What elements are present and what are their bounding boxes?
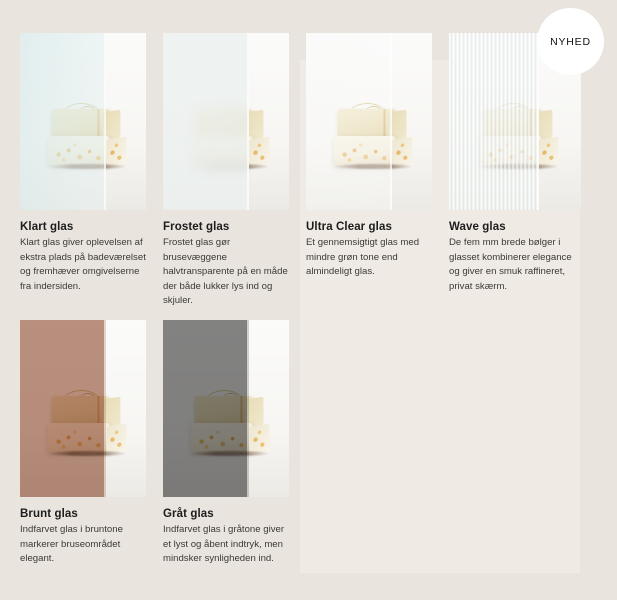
card-description: Klart glas giver oplevelsen af ekstra pl… [20,236,146,294]
soap-photo [163,320,289,497]
card-klart-glas[interactable]: Klart glas Klart glas giver oplevelsen a… [20,33,146,294]
soap-stack-illustration [47,109,121,171]
soap-stack-illustration [333,109,407,171]
card-description: Frostet glas gør brusevæggene halvtransp… [163,236,289,309]
card-title: Brunt glas [20,508,146,520]
soap-photo [163,33,289,210]
card-description: De fem mm brede bølger i glasset kombine… [449,236,581,294]
soap-stack-illustration [47,396,121,458]
soap-stack-illustration [479,109,553,171]
card-graat-glas[interactable]: Gråt glas Indfarvet glas i gråtone giver… [163,320,289,567]
card-frostet-glas[interactable]: Frostet glas Frostet glas gør brusevægge… [163,33,289,309]
card-description: Indfarvet glas i gråtone giver et lyst o… [163,523,289,567]
card-title: Ultra Clear glas [306,221,432,233]
soap-stack-illustration [190,396,264,458]
card-ultra-clear-glas[interactable]: Ultra Clear glas Et gennemsigtigt glas m… [306,33,432,280]
card-brunt-glas[interactable]: Brunt glas Indfarvet glas i bruntone mar… [20,320,146,567]
card-title: Frostet glas [163,221,289,233]
card-description: Indfarvet glas i bruntone markerer bruse… [20,523,146,567]
card-description: Et gennemsigtigt glas med mindre grøn to… [306,236,432,280]
card-image-brunt-glas [20,320,146,497]
soap-photo [306,33,432,210]
soap-photo [20,320,146,497]
nyhed-badge: NYHED [537,8,604,75]
card-title: Gråt glas [163,508,289,520]
card-image-klart-glas [20,33,146,210]
card-image-frostet-glas [163,33,289,210]
card-image-graat-glas [163,320,289,497]
glass-options-grid: Klart glas Klart glas giver oplevelsen a… [0,0,617,600]
card-title: Wave glas [449,221,581,233]
soap-stack-illustration [190,109,264,171]
soap-photo [20,33,146,210]
nyhed-badge-label: NYHED [550,36,591,48]
card-title: Klart glas [20,221,146,233]
card-image-ultra-clear-glas [306,33,432,210]
